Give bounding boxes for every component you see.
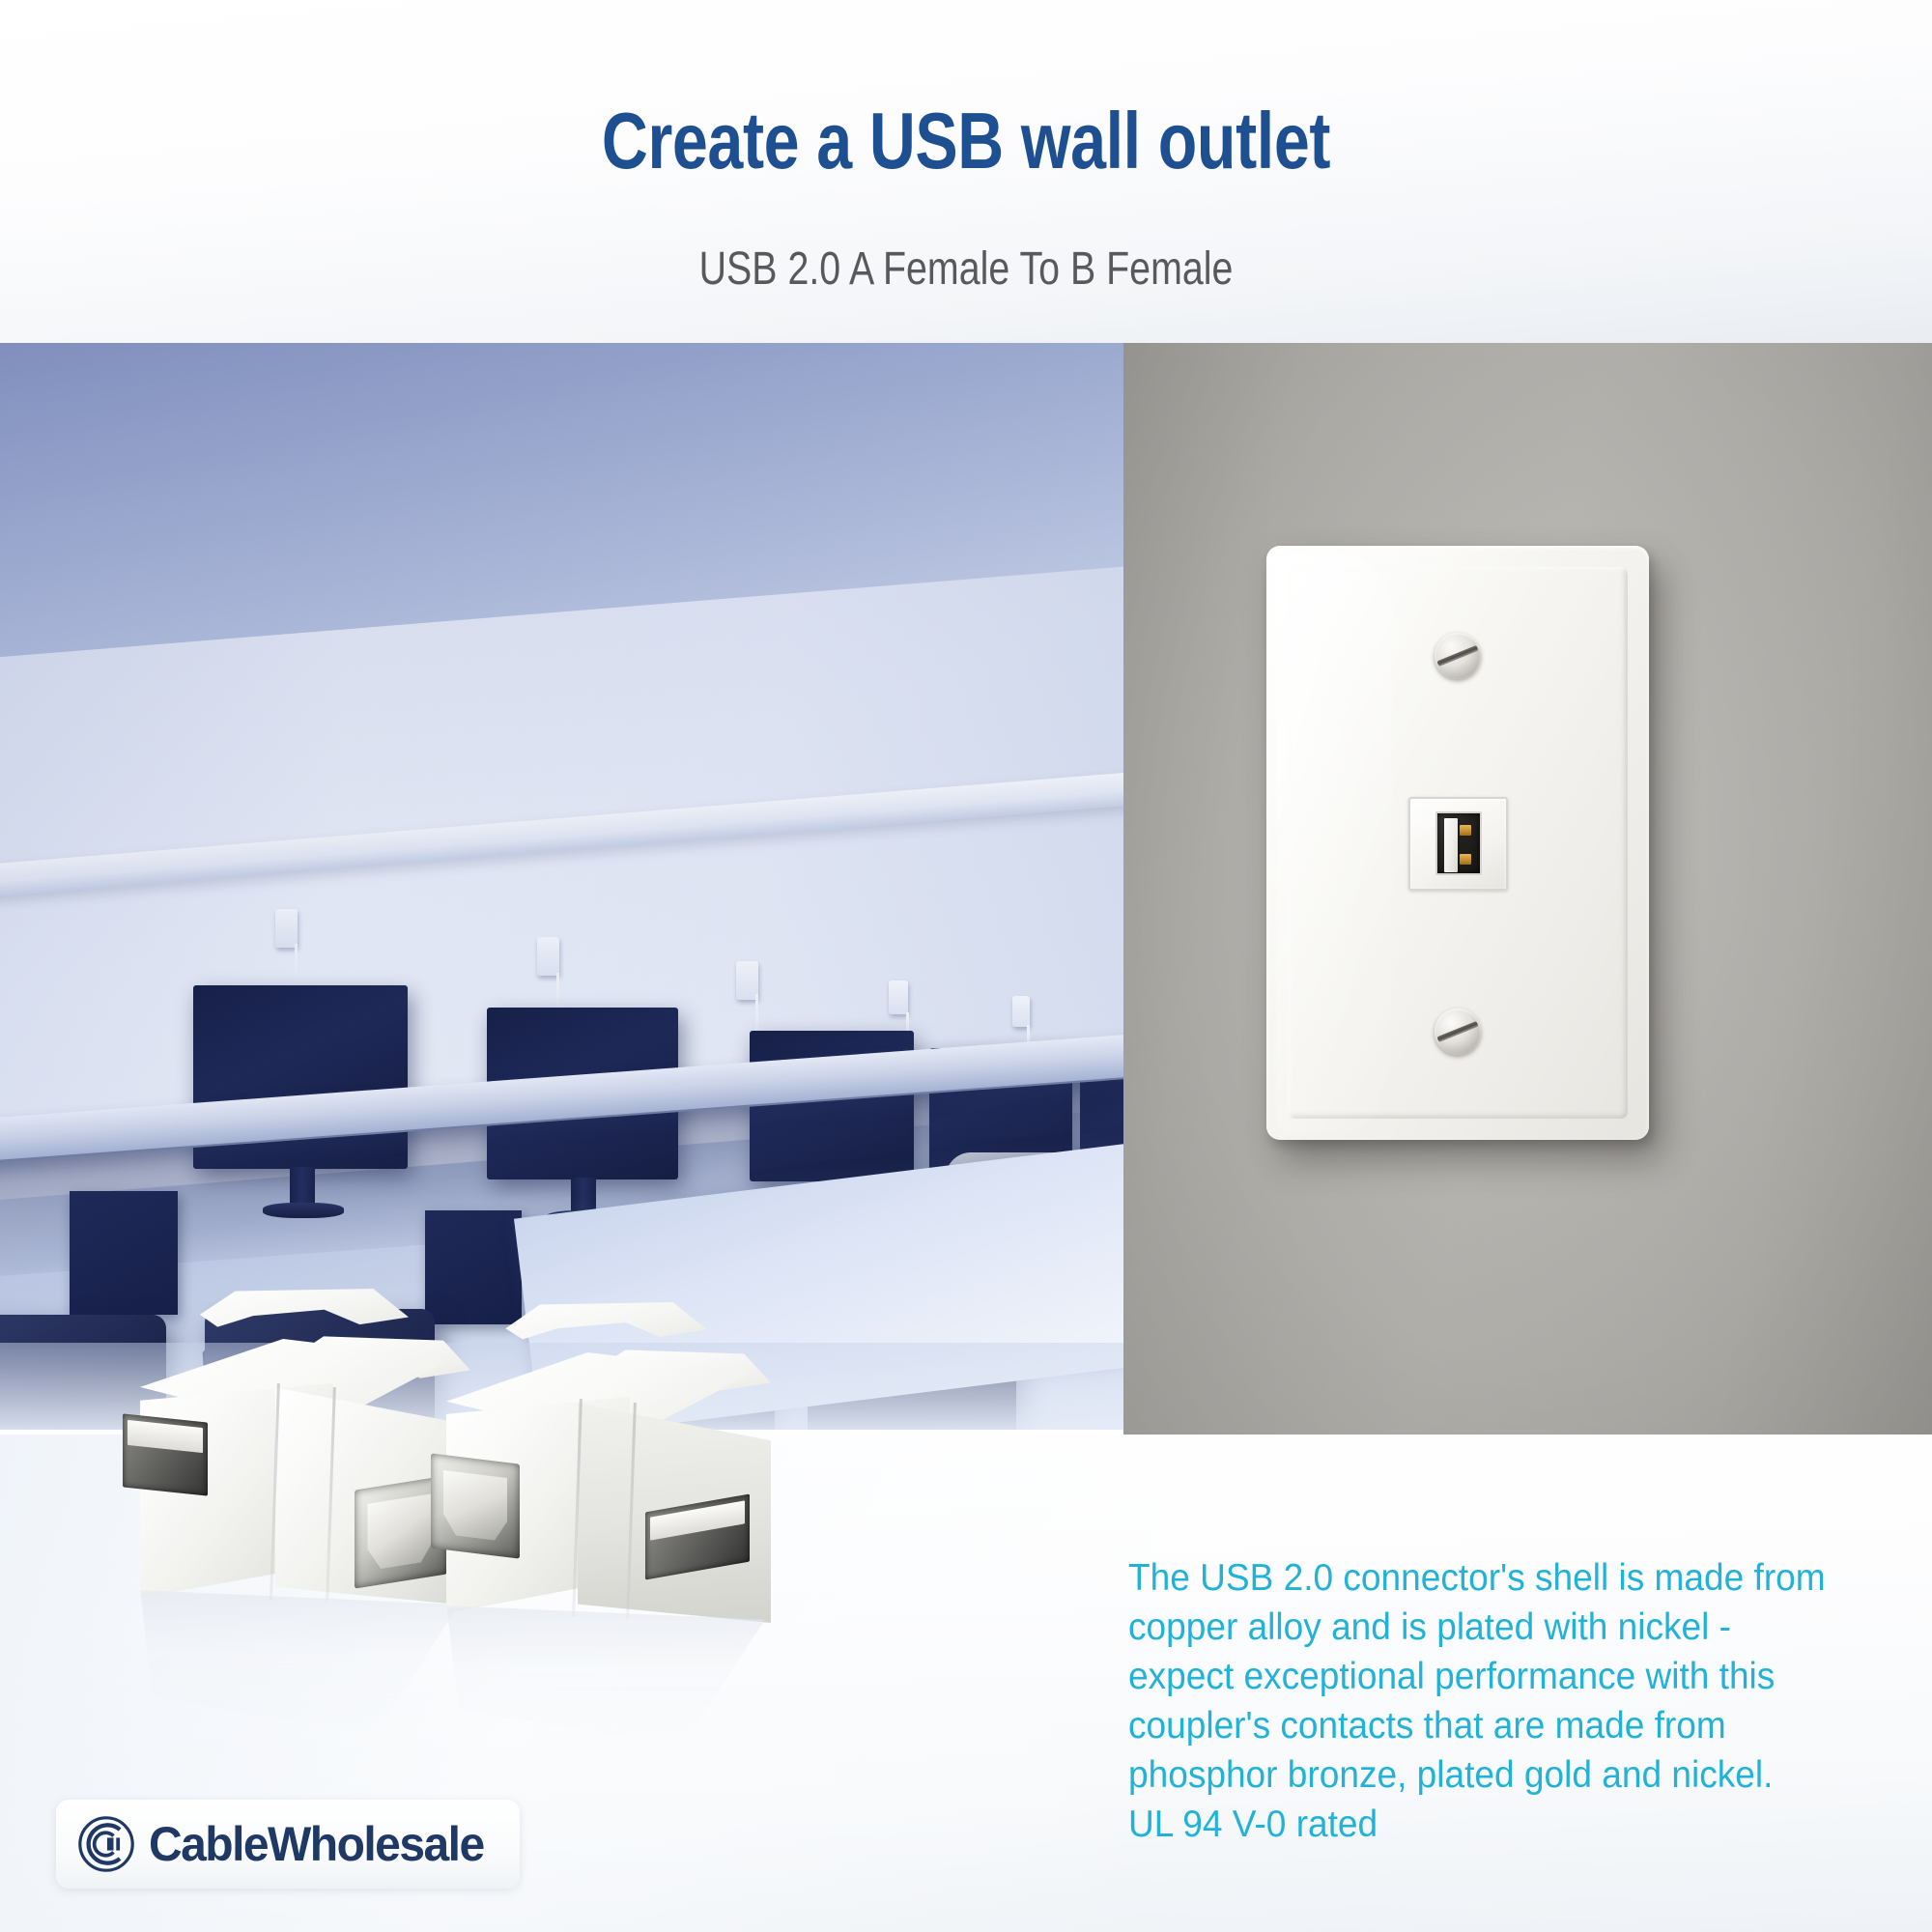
page-subtitle: USB 2.0 A Female To B Female [174,246,1758,293]
photo-row [0,343,1932,1435]
screw-slot [1436,645,1478,667]
wall-plate-screw-bottom [1435,1009,1481,1055]
wall-outlet [1012,996,1030,1027]
wall-plate [1266,546,1649,1140]
wall-outlet [275,909,298,948]
usb-b-cavity [443,1470,507,1543]
computer-lab-classroom-photo [0,343,1123,1430]
usb-a-port [1435,811,1482,875]
coupler-reflection [446,1605,765,1747]
usb-contact-pin [1460,825,1471,836]
brand-name: CableWholesale [149,1816,484,1872]
page-header: Create a USB wall outlet USB 2.0 A Femal… [0,0,1932,343]
screw-slot [1436,1021,1478,1042]
usb-b-port [431,1453,520,1558]
brand-logo[interactable]: CableWholesale [56,1800,520,1889]
wall-outlet [537,937,559,976]
usb-tongue [128,1420,203,1453]
page-title: Create a USB wall outlet [193,100,1739,181]
wall-outlet [889,980,908,1014]
usb-keystone-bezel [1408,797,1508,891]
usb-contact-pin [1460,854,1471,865]
usb-wall-plate-installed-photo [1123,343,1932,1436]
wall-plate-screw-top [1435,633,1481,679]
usb-a-port [123,1413,208,1495]
usb-keystone-coupler-pair-photo [0,1285,869,1826]
usb-b-cavity [367,1493,434,1571]
coupler-reflection [140,1590,459,1735]
product-description: The USB 2.0 connector's shell is made fr… [1128,1553,1826,1849]
circular-c-emblem-icon [77,1815,135,1873]
usb-tongue [1444,818,1458,872]
